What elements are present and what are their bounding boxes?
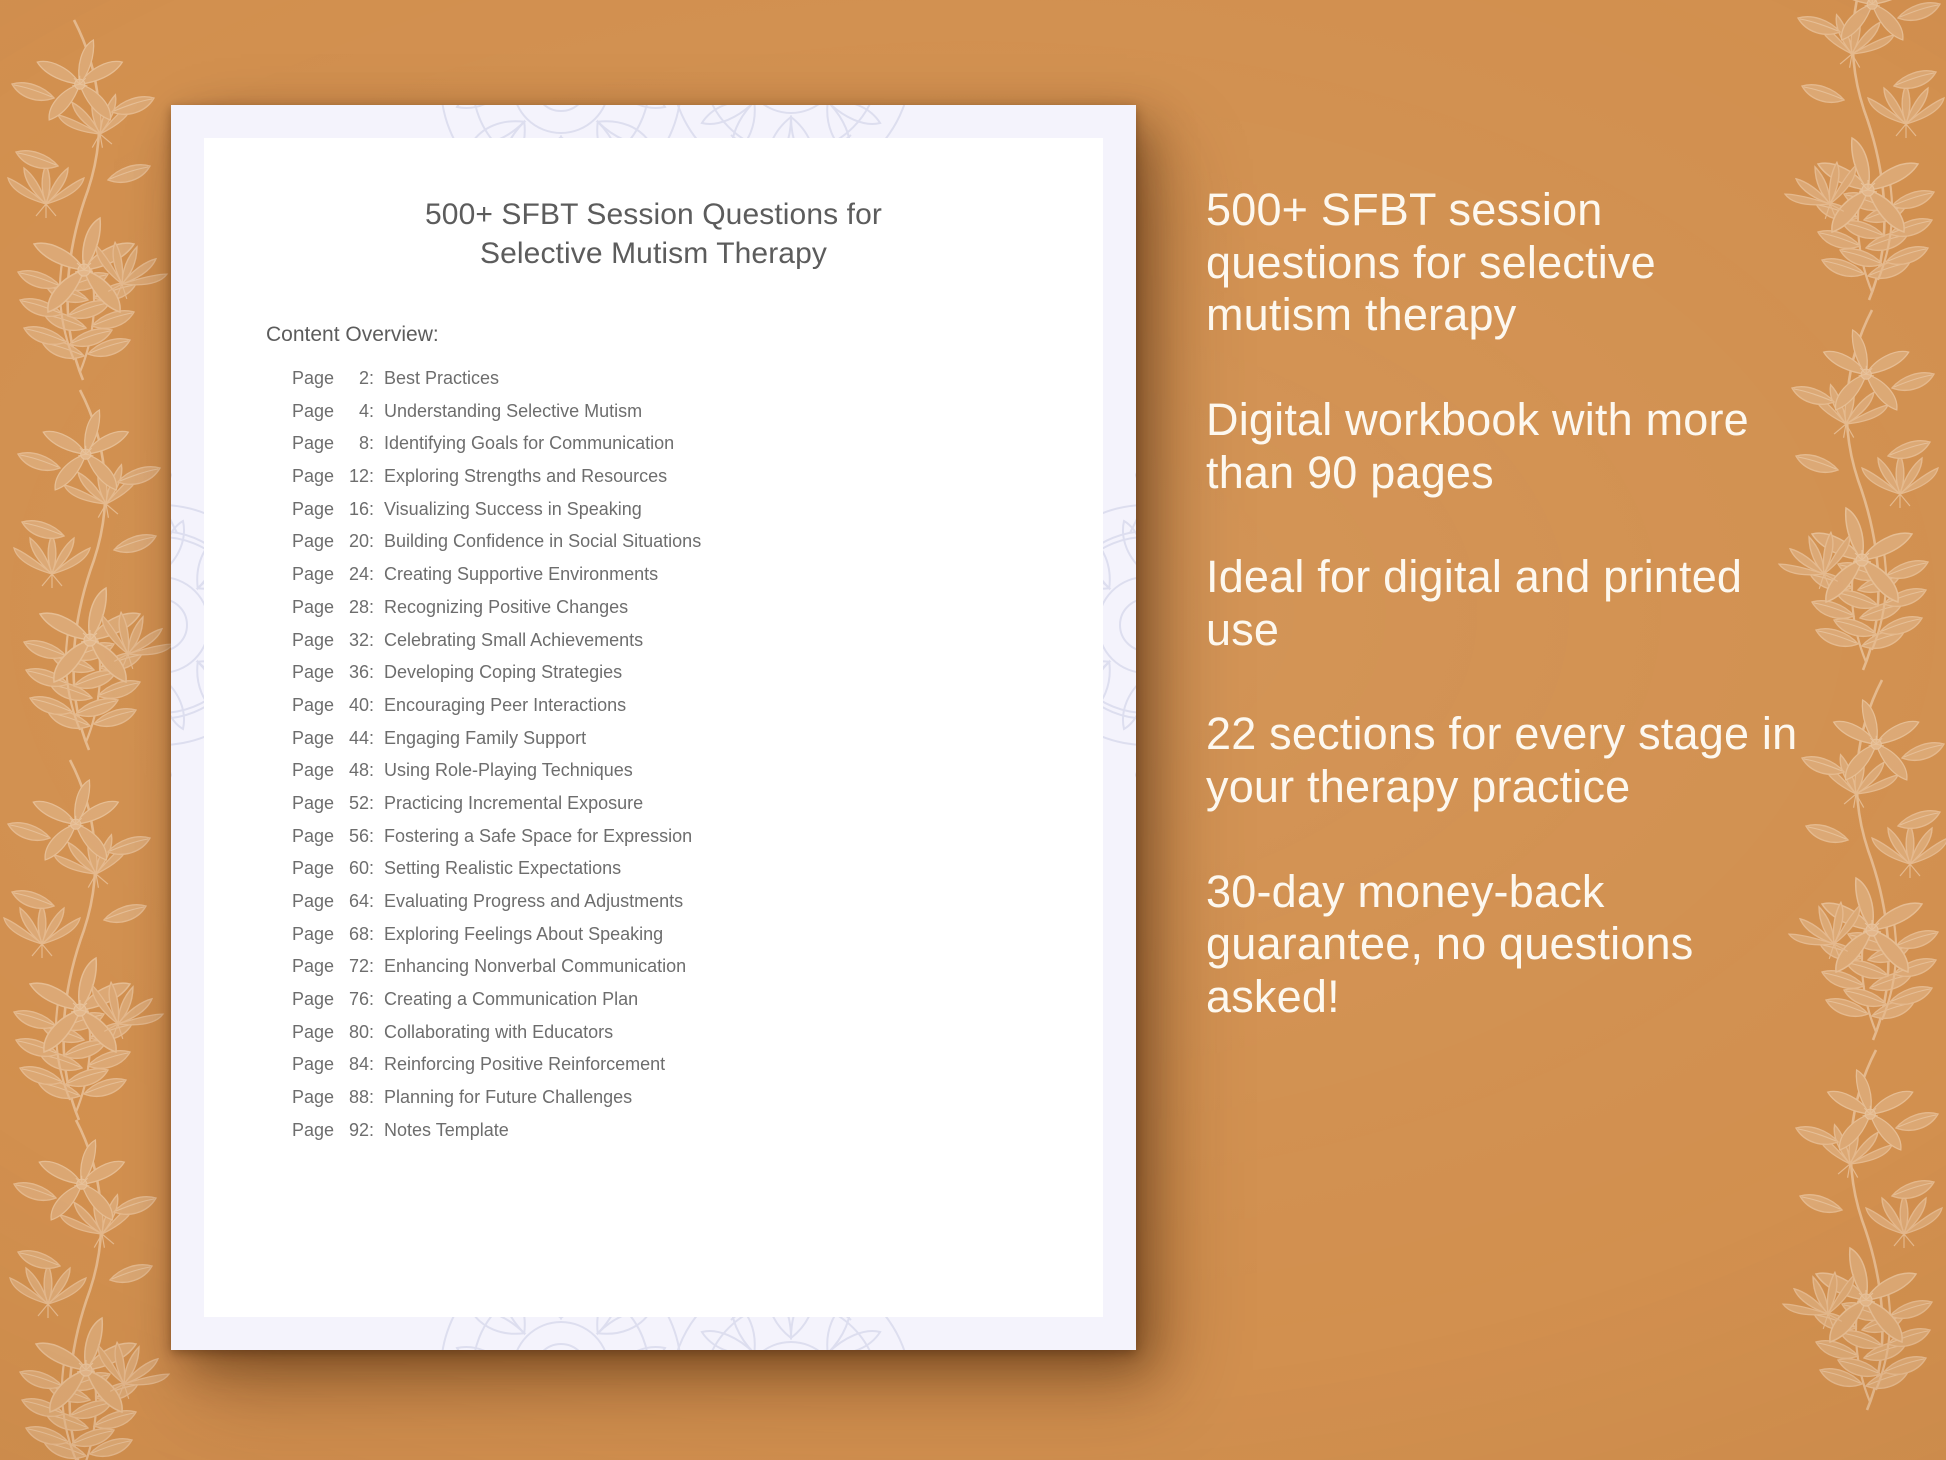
- toc-section-title: Building Confidence in Social Situations: [380, 532, 701, 550]
- list-item[interactable]: Page 32:Celebrating Small Achievements: [292, 631, 1103, 649]
- toc-page-number: Page 12:: [292, 467, 380, 485]
- toc-section-title: Notes Template: [380, 1121, 509, 1139]
- toc-page-word: Page: [292, 695, 339, 715]
- toc-colon: :: [369, 466, 374, 486]
- toc-page-word: Page: [292, 956, 339, 976]
- toc-page-number: Page 40:: [292, 696, 380, 714]
- toc-page-word: Page: [292, 924, 339, 944]
- toc-section-title: Celebrating Small Achievements: [380, 631, 643, 649]
- toc-page-value: 52: [339, 794, 369, 812]
- toc-section-title: Encouraging Peer Interactions: [380, 696, 626, 714]
- toc-page-word: Page: [292, 858, 339, 878]
- list-item[interactable]: Page 28:Recognizing Positive Changes: [292, 598, 1103, 616]
- toc-page-value: 2: [339, 369, 369, 387]
- toc-section-title: Planning for Future Challenges: [380, 1088, 632, 1106]
- toc-page-number: Page 16:: [292, 500, 380, 518]
- toc-page-value: 36: [339, 663, 369, 681]
- toc-page-word: Page: [292, 466, 339, 486]
- list-item[interactable]: Page 56:Fostering a Safe Space for Expre…: [292, 827, 1103, 845]
- toc-section-title: Exploring Feelings About Speaking: [380, 925, 663, 943]
- list-item[interactable]: Page 12:Exploring Strengths and Resource…: [292, 467, 1103, 485]
- toc-page-word: Page: [292, 1054, 339, 1074]
- toc-page-word: Page: [292, 630, 339, 650]
- toc-section-title: Recognizing Positive Changes: [380, 598, 628, 616]
- toc-page-value: 68: [339, 925, 369, 943]
- list-item[interactable]: Page 4:Understanding Selective Mutism: [292, 402, 1103, 420]
- toc-page-word: Page: [292, 891, 339, 911]
- toc-section-title: Reinforcing Positive Reinforcement: [380, 1055, 665, 1073]
- toc-page-number: Page 4:: [292, 402, 380, 420]
- toc-colon: :: [369, 368, 374, 388]
- toc-section-title: Exploring Strengths and Resources: [380, 467, 667, 485]
- toc-page-word: Page: [292, 760, 339, 780]
- toc-page-number: Page 32:: [292, 631, 380, 649]
- toc-section-title: Practicing Incremental Exposure: [380, 794, 643, 812]
- toc-page-word: Page: [292, 826, 339, 846]
- toc-colon: :: [369, 662, 374, 682]
- toc-section-title: Understanding Selective Mutism: [380, 402, 642, 420]
- toc-page-value: 44: [339, 729, 369, 747]
- marketing-bullet: Digital workbook with more than 90 pages: [1206, 394, 1806, 499]
- promo-graphic: 500+ SFBT Session Questions for Selectiv…: [0, 0, 1946, 1460]
- page-title: 500+ SFBT Session Questions for Selectiv…: [204, 138, 1103, 273]
- toc-page-number: Page 2:: [292, 369, 380, 387]
- toc-page-value: 16: [339, 500, 369, 518]
- toc-page-value: 84: [339, 1055, 369, 1073]
- list-item[interactable]: Page 8:Identifying Goals for Communicati…: [292, 434, 1103, 452]
- list-item[interactable]: Page 92:Notes Template: [292, 1121, 1103, 1139]
- list-item[interactable]: Page 88:Planning for Future Challenges: [292, 1088, 1103, 1106]
- toc-page-value: 88: [339, 1088, 369, 1106]
- toc-page-number: Page 64:: [292, 892, 380, 910]
- toc-section-title: Setting Realistic Expectations: [380, 859, 621, 877]
- toc-section-title: Developing Coping Strategies: [380, 663, 622, 681]
- toc-page-number: Page 8:: [292, 434, 380, 452]
- toc-colon: :: [369, 630, 374, 650]
- toc-page-value: 28: [339, 598, 369, 616]
- toc-page-word: Page: [292, 531, 339, 551]
- toc-page-value: 8: [339, 434, 369, 452]
- toc-colon: :: [369, 728, 374, 748]
- toc-page-word: Page: [292, 564, 339, 584]
- list-item[interactable]: Page 16:Visualizing Success in Speaking: [292, 500, 1103, 518]
- toc-colon: :: [369, 1022, 374, 1042]
- toc-page-value: 56: [339, 827, 369, 845]
- list-item[interactable]: Page 44:Engaging Family Support: [292, 729, 1103, 747]
- list-item[interactable]: Page 36:Developing Coping Strategies: [292, 663, 1103, 681]
- toc-page-word: Page: [292, 368, 339, 388]
- toc-page-number: Page 48:: [292, 761, 380, 779]
- toc-colon: :: [369, 858, 374, 878]
- toc-page-value: 60: [339, 859, 369, 877]
- toc-colon: :: [369, 695, 374, 715]
- document-page: 500+ SFBT Session Questions for Selectiv…: [204, 138, 1103, 1317]
- list-item[interactable]: Page 20:Building Confidence in Social Si…: [292, 532, 1103, 550]
- marketing-bullet: 30-day money-back guarantee, no question…: [1206, 866, 1806, 1024]
- toc-page-word: Page: [292, 793, 339, 813]
- toc-colon: :: [369, 499, 374, 519]
- toc-page-word: Page: [292, 989, 339, 1009]
- toc-page-word: Page: [292, 597, 339, 617]
- toc-colon: :: [369, 401, 374, 421]
- table-of-contents-list: Page 2:Best PracticesPage 4:Understandin…: [204, 347, 1103, 1139]
- toc-colon: :: [369, 1087, 374, 1107]
- toc-colon: :: [369, 597, 374, 617]
- toc-page-value: 64: [339, 892, 369, 910]
- list-item[interactable]: Page 52:Practicing Incremental Exposure: [292, 794, 1103, 812]
- toc-page-word: Page: [292, 1120, 339, 1140]
- toc-section-title: Evaluating Progress and Adjustments: [380, 892, 683, 910]
- toc-page-number: Page 36:: [292, 663, 380, 681]
- toc-page-word: Page: [292, 433, 339, 453]
- toc-colon: :: [369, 1120, 374, 1140]
- toc-section-title: Fostering a Safe Space for Expression: [380, 827, 692, 845]
- toc-section-title: Creating a Communication Plan: [380, 990, 638, 1008]
- toc-colon: :: [369, 564, 374, 584]
- toc-page-word: Page: [292, 1087, 339, 1107]
- page-title-line-1: 500+ SFBT Session Questions for: [294, 195, 1013, 234]
- toc-colon: :: [369, 924, 374, 944]
- toc-colon: :: [369, 760, 374, 780]
- toc-colon: :: [369, 826, 374, 846]
- toc-page-value: 48: [339, 761, 369, 779]
- marketing-bullet: Ideal for digital and printed use: [1206, 551, 1806, 656]
- toc-page-value: 80: [339, 1023, 369, 1041]
- marketing-copy-panel: 500+ SFBT session questions for selectiv…: [1206, 184, 1806, 1024]
- marketing-bullet: 500+ SFBT session questions for selectiv…: [1206, 184, 1806, 342]
- toc-page-number: Page 56:: [292, 827, 380, 845]
- marketing-bullet: 22 sections for every stage in your ther…: [1206, 708, 1806, 813]
- toc-colon: :: [369, 1054, 374, 1074]
- toc-page-word: Page: [292, 499, 339, 519]
- list-item[interactable]: Page 2:Best Practices: [292, 369, 1103, 387]
- toc-page-number: Page 52:: [292, 794, 380, 812]
- toc-section-title: Engaging Family Support: [380, 729, 586, 747]
- toc-section-title: Collaborating with Educators: [380, 1023, 613, 1041]
- toc-page-value: 76: [339, 990, 369, 1008]
- toc-page-number: Page 24:: [292, 565, 380, 583]
- list-item[interactable]: Page 24:Creating Supportive Environments: [292, 565, 1103, 583]
- page-title-line-2: Selective Mutism Therapy: [294, 234, 1013, 273]
- toc-page-value: 40: [339, 696, 369, 714]
- toc-page-number: Page 60:: [292, 859, 380, 877]
- toc-page-number: Page 28:: [292, 598, 380, 616]
- toc-page-value: 92: [339, 1121, 369, 1139]
- toc-section-title: Using Role-Playing Techniques: [380, 761, 633, 779]
- toc-section-title: Identifying Goals for Communication: [380, 434, 674, 452]
- toc-section-title: Best Practices: [380, 369, 499, 387]
- toc-colon: :: [369, 531, 374, 551]
- content-overview-label: Content Overview:: [204, 273, 1103, 347]
- toc-page-number: Page 68:: [292, 925, 380, 943]
- toc-colon: :: [369, 433, 374, 453]
- toc-page-word: Page: [292, 1022, 339, 1042]
- toc-page-value: 32: [339, 631, 369, 649]
- list-item[interactable]: Page 60:Setting Realistic Expectations: [292, 859, 1103, 877]
- toc-page-number: Page 76:: [292, 990, 380, 1008]
- toc-colon: :: [369, 989, 374, 1009]
- toc-page-number: Page 44:: [292, 729, 380, 747]
- list-item[interactable]: Page 76:Creating a Communication Plan: [292, 990, 1103, 1008]
- toc-colon: :: [369, 793, 374, 813]
- list-item[interactable]: Page 80:Collaborating with Educators: [292, 1023, 1103, 1041]
- toc-section-title: Creating Supportive Environments: [380, 565, 658, 583]
- toc-colon: :: [369, 956, 374, 976]
- toc-page-value: 72: [339, 957, 369, 975]
- list-item[interactable]: Page 64:Evaluating Progress and Adjustme…: [292, 892, 1103, 910]
- toc-page-number: Page 84:: [292, 1055, 380, 1073]
- document-preview[interactable]: 500+ SFBT Session Questions for Selectiv…: [171, 105, 1136, 1350]
- list-item[interactable]: Page 48:Using Role-Playing Techniques: [292, 761, 1103, 779]
- toc-page-number: Page 72:: [292, 957, 380, 975]
- toc-page-value: 20: [339, 532, 369, 550]
- toc-page-value: 4: [339, 402, 369, 420]
- toc-colon: :: [369, 891, 374, 911]
- toc-page-number: Page 92:: [292, 1121, 380, 1139]
- toc-page-word: Page: [292, 662, 339, 682]
- toc-page-value: 24: [339, 565, 369, 583]
- list-item[interactable]: Page 72:Enhancing Nonverbal Communicatio…: [292, 957, 1103, 975]
- toc-page-value: 12: [339, 467, 369, 485]
- list-item[interactable]: Page 84:Reinforcing Positive Reinforceme…: [292, 1055, 1103, 1073]
- list-item[interactable]: Page 40:Encouraging Peer Interactions: [292, 696, 1103, 714]
- toc-page-number: Page 20:: [292, 532, 380, 550]
- toc-page-word: Page: [292, 728, 339, 748]
- toc-section-title: Visualizing Success in Speaking: [380, 500, 642, 518]
- toc-section-title: Enhancing Nonverbal Communication: [380, 957, 686, 975]
- toc-page-word: Page: [292, 401, 339, 421]
- toc-page-number: Page 88:: [292, 1088, 380, 1106]
- toc-page-number: Page 80:: [292, 1023, 380, 1041]
- list-item[interactable]: Page 68:Exploring Feelings About Speakin…: [292, 925, 1103, 943]
